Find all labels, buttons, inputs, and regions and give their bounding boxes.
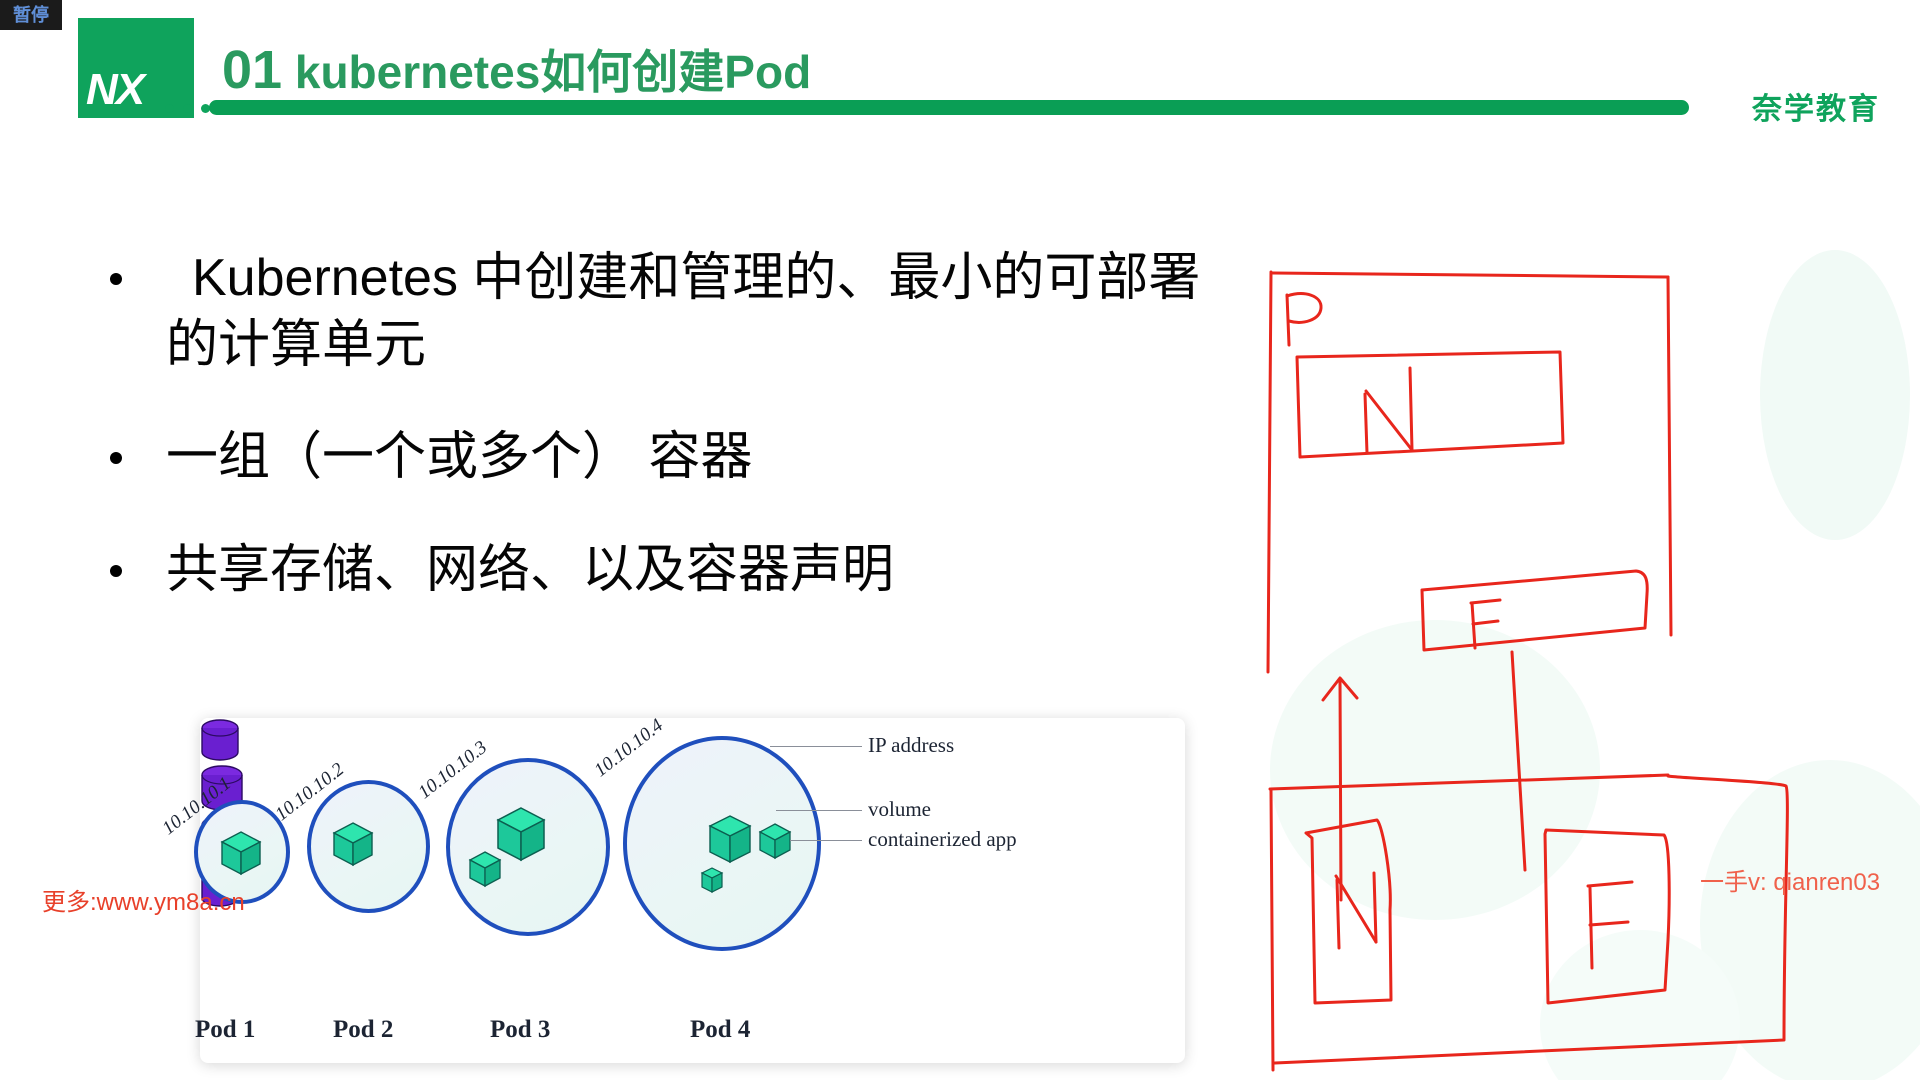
status-badge: 暂停 <box>0 0 62 30</box>
pod-diagram-card: 10.10.10.1 Pod 1 10.10.10.2 <box>200 718 1185 1063</box>
leader-line <box>776 810 862 811</box>
logo-text: NX <box>86 68 143 112</box>
page-title: 01 kubernetes如何创建Pod <box>222 36 811 102</box>
title-underline-rule <box>209 100 1689 115</box>
brand-logo-text: 奈学教育 <box>1752 84 1880 128</box>
decorative-blob <box>1700 760 1920 1080</box>
bullet-text: Kubernetes 中创建和管理的、最小的可部署的计算单元 <box>166 245 1230 378</box>
decorative-blob <box>1270 620 1600 920</box>
list-item: 一组（一个或多个） 容器 <box>110 424 1230 491</box>
container-cube-icon <box>496 806 546 862</box>
bullet-dot-icon <box>110 452 122 464</box>
bullet-text: 共享存储、网络、以及容器声明 <box>166 537 894 604</box>
list-item: Kubernetes 中创建和管理的、最小的可部署的计算单元 <box>110 245 1230 378</box>
bullet-dot-icon <box>110 273 122 285</box>
container-cube-icon <box>700 866 724 894</box>
logo-dots <box>165 104 210 113</box>
bullet-dot-icon <box>110 565 122 577</box>
pod-name-label: Pod 4 <box>690 1016 750 1044</box>
decorative-blob <box>1760 250 1910 540</box>
container-cube-icon <box>332 821 374 867</box>
container-cube-icon <box>758 822 792 860</box>
page-title-number: 01 <box>222 40 282 100</box>
slide-canvas: 暂停 NX 01 kubernetes如何创建Pod 奈学教育 Kubernet… <box>0 0 1920 1080</box>
list-item: 共享存储、网络、以及容器声明 <box>110 537 1230 604</box>
pod-name-label: Pod 1 <box>195 1016 255 1044</box>
bullet-text: 一组（一个或多个） 容器 <box>166 424 752 491</box>
container-cube-icon <box>220 830 262 876</box>
page-title-text: kubernetes如何创建Pod <box>282 46 811 98</box>
logo-dot-icon <box>165 104 174 113</box>
watermark-left: 更多:www.ym8a.cn <box>42 882 245 917</box>
slide-header: NX 01 kubernetes如何创建Pod 奈学教育 <box>0 0 1920 150</box>
legend-containerized-app: containerized app <box>868 827 1017 852</box>
pod-name-label: Pod 2 <box>333 1016 393 1044</box>
decorative-blob <box>1540 930 1740 1080</box>
bullet-list: Kubernetes 中创建和管理的、最小的可部署的计算单元 一组（一个或多个）… <box>110 245 1230 649</box>
leader-line <box>770 746 862 747</box>
legend-volume: volume <box>868 797 931 822</box>
container-cube-icon <box>708 814 752 864</box>
watermark-right: 一手v: qianren03 <box>1700 862 1880 897</box>
pod-name-label: Pod 3 <box>490 1016 550 1044</box>
container-cube-icon <box>468 850 502 888</box>
leader-line <box>790 840 862 841</box>
logo-dot-icon <box>183 104 192 113</box>
legend-ip-address: IP address <box>868 733 954 758</box>
